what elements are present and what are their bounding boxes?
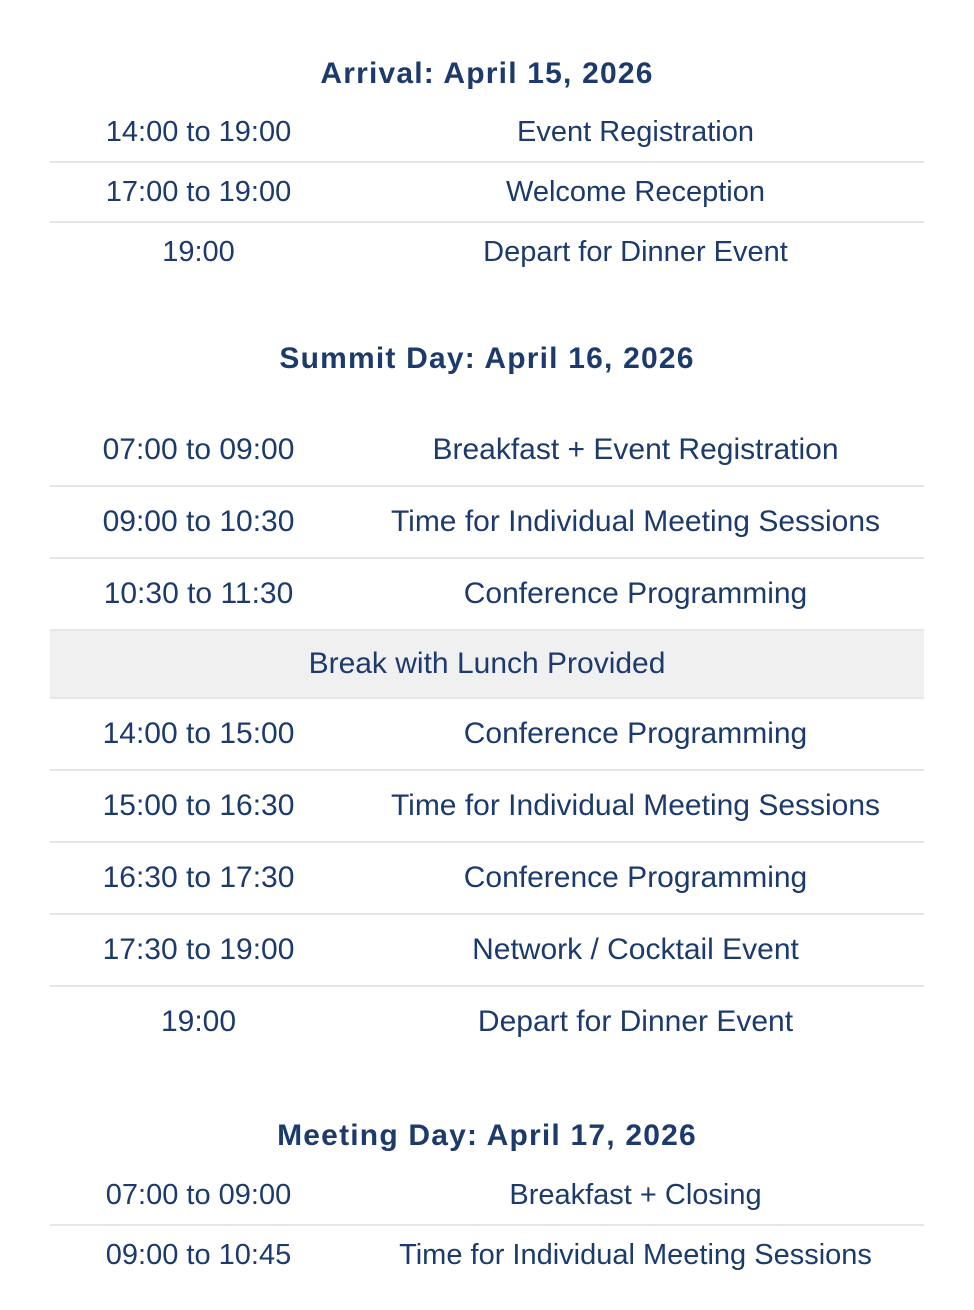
cell-activity: Time for Individual Meeting Sessions <box>347 1225 924 1284</box>
cell-activity: Conference Programming <box>347 698 924 770</box>
agenda-section-meeting-day: Meeting Day: April 17, 2026 07:00 to 09:… <box>0 1057 974 1284</box>
agenda-table-meeting-day: 07:00 to 09:00 Breakfast + Closing 09:00… <box>50 1166 924 1284</box>
cell-time: 09:00 to 10:30 <box>50 486 347 558</box>
cell-activity: Network / Cocktail Event <box>347 914 924 986</box>
cell-time: 15:00 to 16:30 <box>50 770 347 842</box>
table-row: 10:30 to 11:30 Conference Programming <box>50 558 924 630</box>
agenda-table-summit-day: 07:00 to 09:00 Breakfast + Event Registr… <box>50 415 924 1057</box>
cell-activity: Conference Programming <box>347 842 924 914</box>
cell-time: 10:30 to 11:30 <box>50 558 347 630</box>
agenda-table-body: 14:00 to 19:00 Event Registration 17:00 … <box>50 103 924 281</box>
cell-time: 17:30 to 19:00 <box>50 914 347 986</box>
table-row-break: Break with Lunch Provided <box>50 630 924 698</box>
cell-activity: Depart for Dinner Event <box>347 986 924 1057</box>
agenda-table-body: 07:00 to 09:00 Breakfast + Event Registr… <box>50 415 924 1057</box>
section-heading-summit-day: Summit Day: April 16, 2026 <box>0 281 974 415</box>
table-row: 14:00 to 19:00 Event Registration <box>50 103 924 162</box>
section-heading-arrival: Arrival: April 15, 2026 <box>0 0 974 103</box>
agenda-section-arrival: Arrival: April 15, 2026 14:00 to 19:00 E… <box>0 0 974 281</box>
cell-time: 09:00 to 10:45 <box>50 1225 347 1284</box>
table-row: 17:00 to 19:00 Welcome Reception <box>50 162 924 222</box>
cell-break-label: Break with Lunch Provided <box>50 630 924 698</box>
cell-activity: Breakfast + Closing <box>347 1166 924 1225</box>
table-row: 09:00 to 10:30 Time for Individual Meeti… <box>50 486 924 558</box>
cell-time: 19:00 <box>50 222 347 281</box>
table-row: 09:00 to 10:45 Time for Individual Meeti… <box>50 1225 924 1284</box>
cell-time: 07:00 to 09:00 <box>50 415 347 486</box>
cell-activity: Event Registration <box>347 103 924 162</box>
table-row: 19:00 Depart for Dinner Event <box>50 986 924 1057</box>
cell-activity: Breakfast + Event Registration <box>347 415 924 486</box>
cell-time: 14:00 to 19:00 <box>50 103 347 162</box>
cell-activity: Depart for Dinner Event <box>347 222 924 281</box>
table-row: 16:30 to 17:30 Conference Programming <box>50 842 924 914</box>
cell-time: 19:00 <box>50 986 347 1057</box>
table-row: 07:00 to 09:00 Breakfast + Event Registr… <box>50 415 924 486</box>
table-row: 17:30 to 19:00 Network / Cocktail Event <box>50 914 924 986</box>
cell-time: 17:00 to 19:00 <box>50 162 347 222</box>
cell-activity: Conference Programming <box>347 558 924 630</box>
table-row: 15:00 to 16:30 Time for Individual Meeti… <box>50 770 924 842</box>
cell-time: 14:00 to 15:00 <box>50 698 347 770</box>
agenda-table-arrival: 14:00 to 19:00 Event Registration 17:00 … <box>50 103 924 281</box>
cell-activity: Time for Individual Meeting Sessions <box>347 770 924 842</box>
cell-activity: Welcome Reception <box>347 162 924 222</box>
table-row: 07:00 to 09:00 Breakfast + Closing <box>50 1166 924 1225</box>
cell-activity: Time for Individual Meeting Sessions <box>347 486 924 558</box>
cell-time: 07:00 to 09:00 <box>50 1166 347 1225</box>
table-row: 14:00 to 15:00 Conference Programming <box>50 698 924 770</box>
event-agenda: Arrival: April 15, 2026 14:00 to 19:00 E… <box>0 0 974 1284</box>
agenda-section-summit-day: Summit Day: April 16, 2026 07:00 to 09:0… <box>0 281 974 1057</box>
cell-time: 16:30 to 17:30 <box>50 842 347 914</box>
table-row: 19:00 Depart for Dinner Event <box>50 222 924 281</box>
section-heading-meeting-day: Meeting Day: April 17, 2026 <box>0 1057 974 1166</box>
agenda-table-body: 07:00 to 09:00 Breakfast + Closing 09:00… <box>50 1166 924 1284</box>
